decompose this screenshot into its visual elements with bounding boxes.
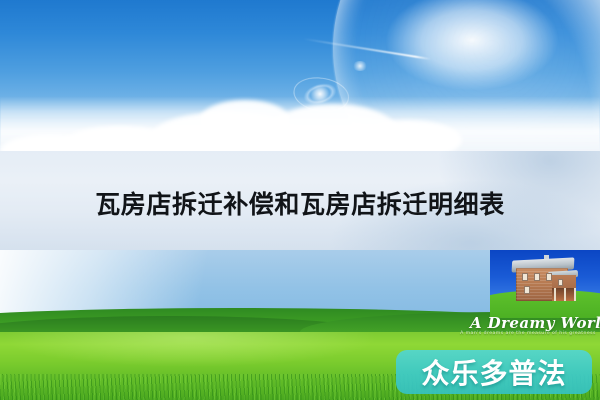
house-window xyxy=(534,273,540,281)
porch-post xyxy=(574,288,576,301)
porch-post xyxy=(564,288,566,301)
house-window xyxy=(558,279,563,286)
cloud-puff xyxy=(200,100,290,140)
watermark-label: 众乐多普法 xyxy=(396,350,592,394)
house-window xyxy=(522,273,528,281)
porch-post xyxy=(554,288,556,301)
dreamy-world-subtitle: A man's dreams are the measure of his gr… xyxy=(458,331,598,336)
house-window xyxy=(546,273,552,281)
banner-image: 瓦房店拆迁补偿和瓦房店拆迁明细表 A Dreamy World A man's … xyxy=(0,0,600,400)
star-glow xyxy=(352,61,368,71)
farmhouse-icon xyxy=(512,255,578,301)
farmhouse-photo-inset xyxy=(490,250,600,318)
dreamy-world-title: A Dreamy World xyxy=(470,314,596,332)
house-window xyxy=(524,286,530,294)
page-title: 瓦房店拆迁补偿和瓦房店拆迁明细表 xyxy=(0,190,600,220)
